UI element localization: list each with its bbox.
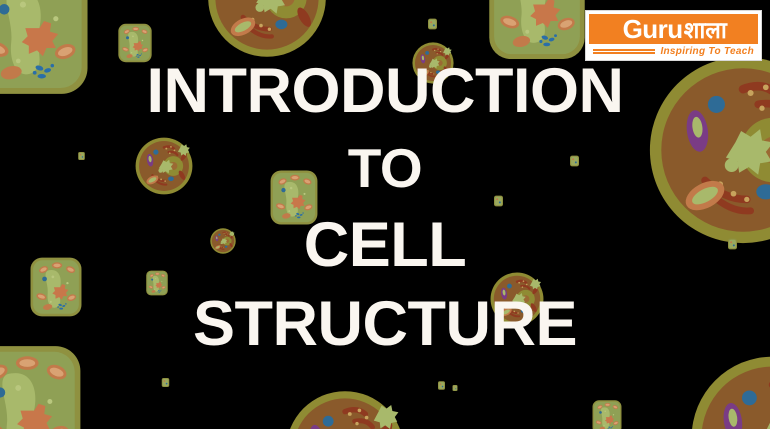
plant-cell-mid-right — [271, 170, 318, 224]
plant-cell-small-top — [118, 24, 151, 62]
plant-chip-c — [570, 156, 579, 167]
animal-cell-center — [491, 273, 544, 326]
plant-chip-f — [728, 239, 737, 250]
plant-cell-top-left — [0, 0, 88, 94]
logo-brand-devanagari: शाला — [684, 19, 727, 42]
plant-cell-top-right — [489, 0, 584, 59]
plant-cell-bottom-left — [0, 346, 80, 429]
logo-brand-bar: Guru शाला — [589, 14, 758, 44]
animal-cell-bottom-mid — [286, 391, 404, 429]
gurushala-logo[interactable]: Guru शाला Inspiring To Teach — [585, 10, 762, 61]
plant-chip-d — [494, 196, 503, 207]
plant-chip-b — [428, 19, 437, 30]
plant-chip-h — [453, 385, 458, 391]
plant-chip-g — [438, 381, 445, 389]
plant-chip-a — [78, 152, 85, 160]
animal-cell-small-a — [412, 42, 453, 83]
animal-cell-mid-left — [136, 138, 193, 195]
plant-chip-e — [162, 378, 170, 387]
logo-tagline: Inspiring To Teach — [660, 46, 754, 57]
plant-cell-small-right — [146, 271, 168, 296]
plant-cell-mid-left — [31, 258, 82, 317]
logo-tagline-row: Inspiring To Teach — [589, 44, 758, 58]
slide-canvas: INTRODUCTION TO CELL STRUCTURE Guru शाला… — [0, 0, 770, 429]
logo-rule-lines — [593, 49, 655, 55]
animal-cell-bottom-right — [692, 357, 770, 429]
animal-cell-tiny-left — [210, 228, 235, 253]
cell-layer — [0, 0, 770, 429]
animal-cell-top-center — [208, 0, 326, 57]
logo-brand-latin: Guru — [623, 16, 683, 42]
animal-cell-large-right — [650, 57, 770, 243]
plant-cell-bottom-right — [593, 400, 622, 429]
cell-illustration-background — [0, 0, 770, 429]
